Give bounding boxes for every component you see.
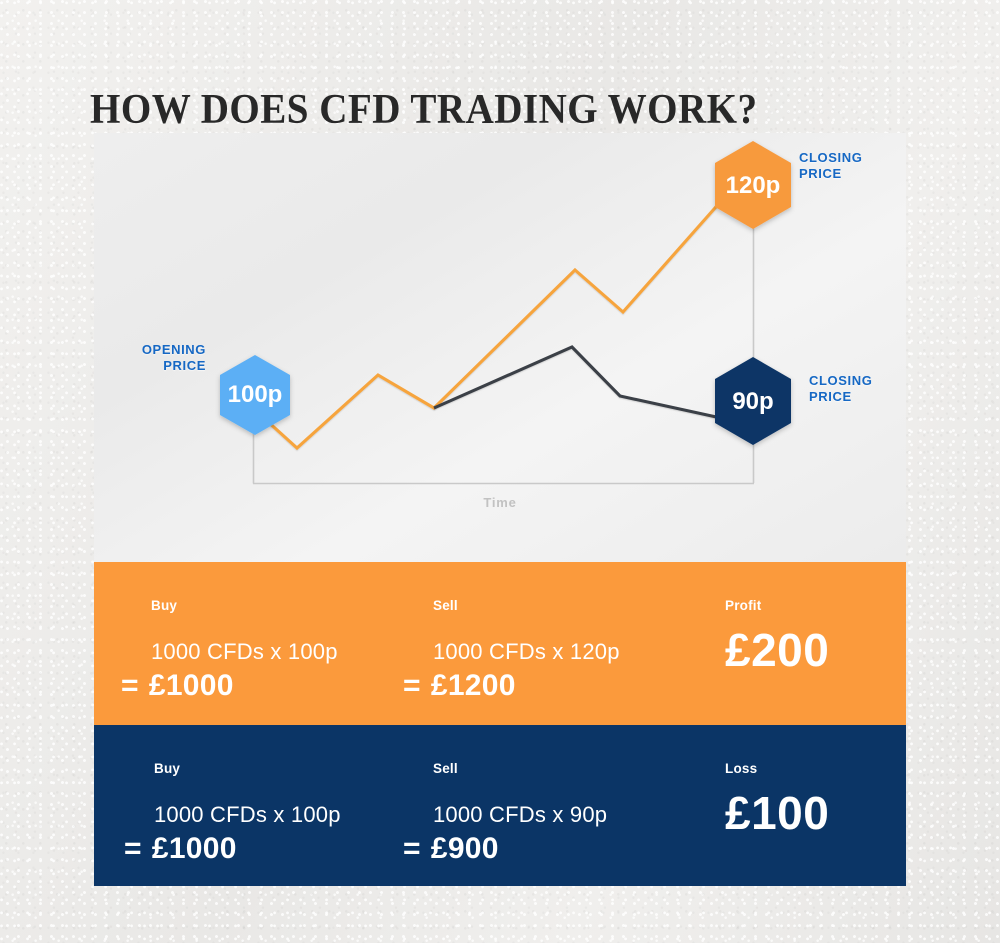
loss-buy-title: Buy xyxy=(154,761,341,776)
loss-outcome-amount: £100 xyxy=(725,790,829,836)
closing-price-up-label: CLOSING PRICE xyxy=(799,150,862,183)
profit-sell-total-value: £1200 xyxy=(431,669,516,702)
profit-buy-expression: 1000 CFDs x 100p xyxy=(151,639,338,665)
marker-closing-price-up-value: 120p xyxy=(726,172,781,199)
series-line-rising xyxy=(255,165,753,448)
loss-buy-column: Buy 1000 CFDs x 100p =£1000 xyxy=(154,761,341,866)
profit-sell-title: Sell xyxy=(433,598,620,613)
closing-price-down-label-line1: CLOSING xyxy=(809,373,872,388)
loss-buy-expression: 1000 CFDs x 100p xyxy=(154,802,341,828)
marker-closing-price-down-value: 90p xyxy=(732,388,773,415)
closing-price-up-label-line1: CLOSING xyxy=(799,150,862,165)
profit-outcome-column: Profit £200 xyxy=(725,598,829,673)
profit-buy-column: Buy 1000 CFDs x 100p =£1000 xyxy=(151,598,338,703)
profit-outcome-title: Profit xyxy=(725,598,829,613)
loss-outcome-title: Loss xyxy=(725,761,829,776)
series-line-falling xyxy=(434,347,753,425)
loss-sell-equals: = xyxy=(403,832,421,865)
profit-buy-equals: = xyxy=(121,669,139,702)
loss-buy-equals: = xyxy=(124,832,142,865)
loss-sell-title: Sell xyxy=(433,761,607,776)
closing-price-up-label-line2: PRICE xyxy=(799,166,842,181)
profit-buy-title: Buy xyxy=(151,598,338,613)
loss-scenario-panel: Buy 1000 CFDs x 100p =£1000 Sell 1000 CF… xyxy=(94,725,906,886)
opening-price-label: OPENING PRICE xyxy=(124,342,206,375)
loss-sell-total: =£900 xyxy=(403,832,607,866)
x-axis-label: Time xyxy=(94,495,906,510)
closing-price-down-label-line2: PRICE xyxy=(809,389,852,404)
loss-buy-total-value: £1000 xyxy=(152,832,237,865)
profit-sell-total: =£1200 xyxy=(403,669,620,703)
profit-buy-total-value: £1000 xyxy=(149,669,234,702)
profit-sell-equals: = xyxy=(403,669,421,702)
infographic-page: HOW DOES CFD TRADING WORK? xyxy=(0,0,1000,943)
marker-opening-price-value: 100p xyxy=(228,381,283,408)
loss-sell-total-value: £900 xyxy=(431,832,499,865)
chart-panel: 100p 120p 90p OPENING PRICE CLOSING PRIC… xyxy=(94,133,906,562)
profit-scenario-panel: Buy 1000 CFDs x 100p =£1000 Sell 1000 CF… xyxy=(94,562,906,725)
loss-outcome-column: Loss £100 xyxy=(725,761,829,836)
profit-buy-total: =£1000 xyxy=(121,669,338,703)
loss-buy-total: =£1000 xyxy=(124,832,341,866)
loss-sell-column: Sell 1000 CFDs x 90p =£900 xyxy=(433,761,607,866)
page-title: HOW DOES CFD TRADING WORK? xyxy=(90,86,758,134)
closing-price-down-label: CLOSING PRICE xyxy=(809,373,872,406)
profit-sell-column: Sell 1000 CFDs x 120p =£1200 xyxy=(433,598,620,703)
opening-price-label-line2: PRICE xyxy=(163,358,206,373)
opening-price-label-line1: OPENING xyxy=(142,342,206,357)
profit-outcome-amount: £200 xyxy=(725,627,829,673)
profit-sell-expression: 1000 CFDs x 120p xyxy=(433,639,620,665)
loss-sell-expression: 1000 CFDs x 90p xyxy=(433,802,607,828)
